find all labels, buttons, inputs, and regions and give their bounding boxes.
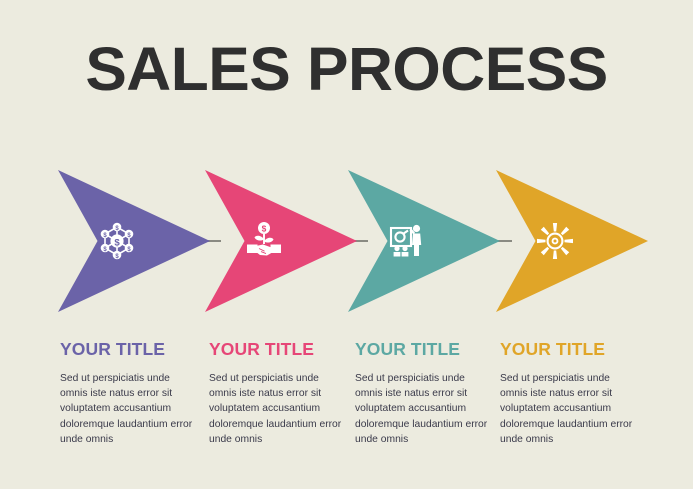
step-descriptions-row: YOUR TITLE Sed ut perspiciatis unde omni… (0, 339, 693, 459)
svg-text:$: $ (262, 224, 267, 234)
svg-text:$: $ (114, 237, 120, 248)
step-description-2: YOUR TITLE Sed ut perspiciatis unde omni… (209, 339, 345, 447)
presentation-training-icon (383, 217, 431, 265)
sunburst-shine-icon (531, 217, 579, 265)
step-description-1: YOUR TITLE Sed ut perspiciatis unde omni… (60, 339, 196, 447)
step-body-1: Sed ut perspiciatis unde omnis iste natu… (60, 371, 196, 447)
step-title-4: YOUR TITLE (500, 339, 636, 359)
step-body-2: Sed ut perspiciatis unde omnis iste natu… (209, 371, 345, 447)
step-description-3: YOUR TITLE Sed ut perspiciatis unde omni… (355, 339, 491, 447)
step-title-1: YOUR TITLE (60, 339, 196, 359)
step-body-3: Sed ut perspiciatis unde omnis iste natu… (355, 371, 491, 447)
sales-process-infographic: SALES PROCESS (0, 0, 693, 489)
step-description-4: YOUR TITLE Sed ut perspiciatis unde omni… (500, 339, 636, 447)
arrow-steps-row: $ $ $ $ $ $ $ $ (0, 170, 693, 312)
process-step-4[interactable] (496, 170, 648, 312)
page-title: SALES PROCESS (0, 38, 693, 100)
process-step-2[interactable]: $ (205, 170, 357, 312)
step-title-2: YOUR TITLE (209, 339, 345, 359)
step-title-3: YOUR TITLE (355, 339, 491, 359)
process-step-3[interactable] (348, 170, 500, 312)
handshake-money-plant-icon: $ (240, 217, 288, 265)
process-step-1[interactable]: $ $ $ $ $ $ $ (58, 170, 210, 312)
step-body-4: Sed ut perspiciatis unde omnis iste natu… (500, 371, 636, 447)
title-container: SALES PROCESS (0, 38, 693, 100)
money-network-icon: $ $ $ $ $ $ $ (93, 217, 141, 265)
